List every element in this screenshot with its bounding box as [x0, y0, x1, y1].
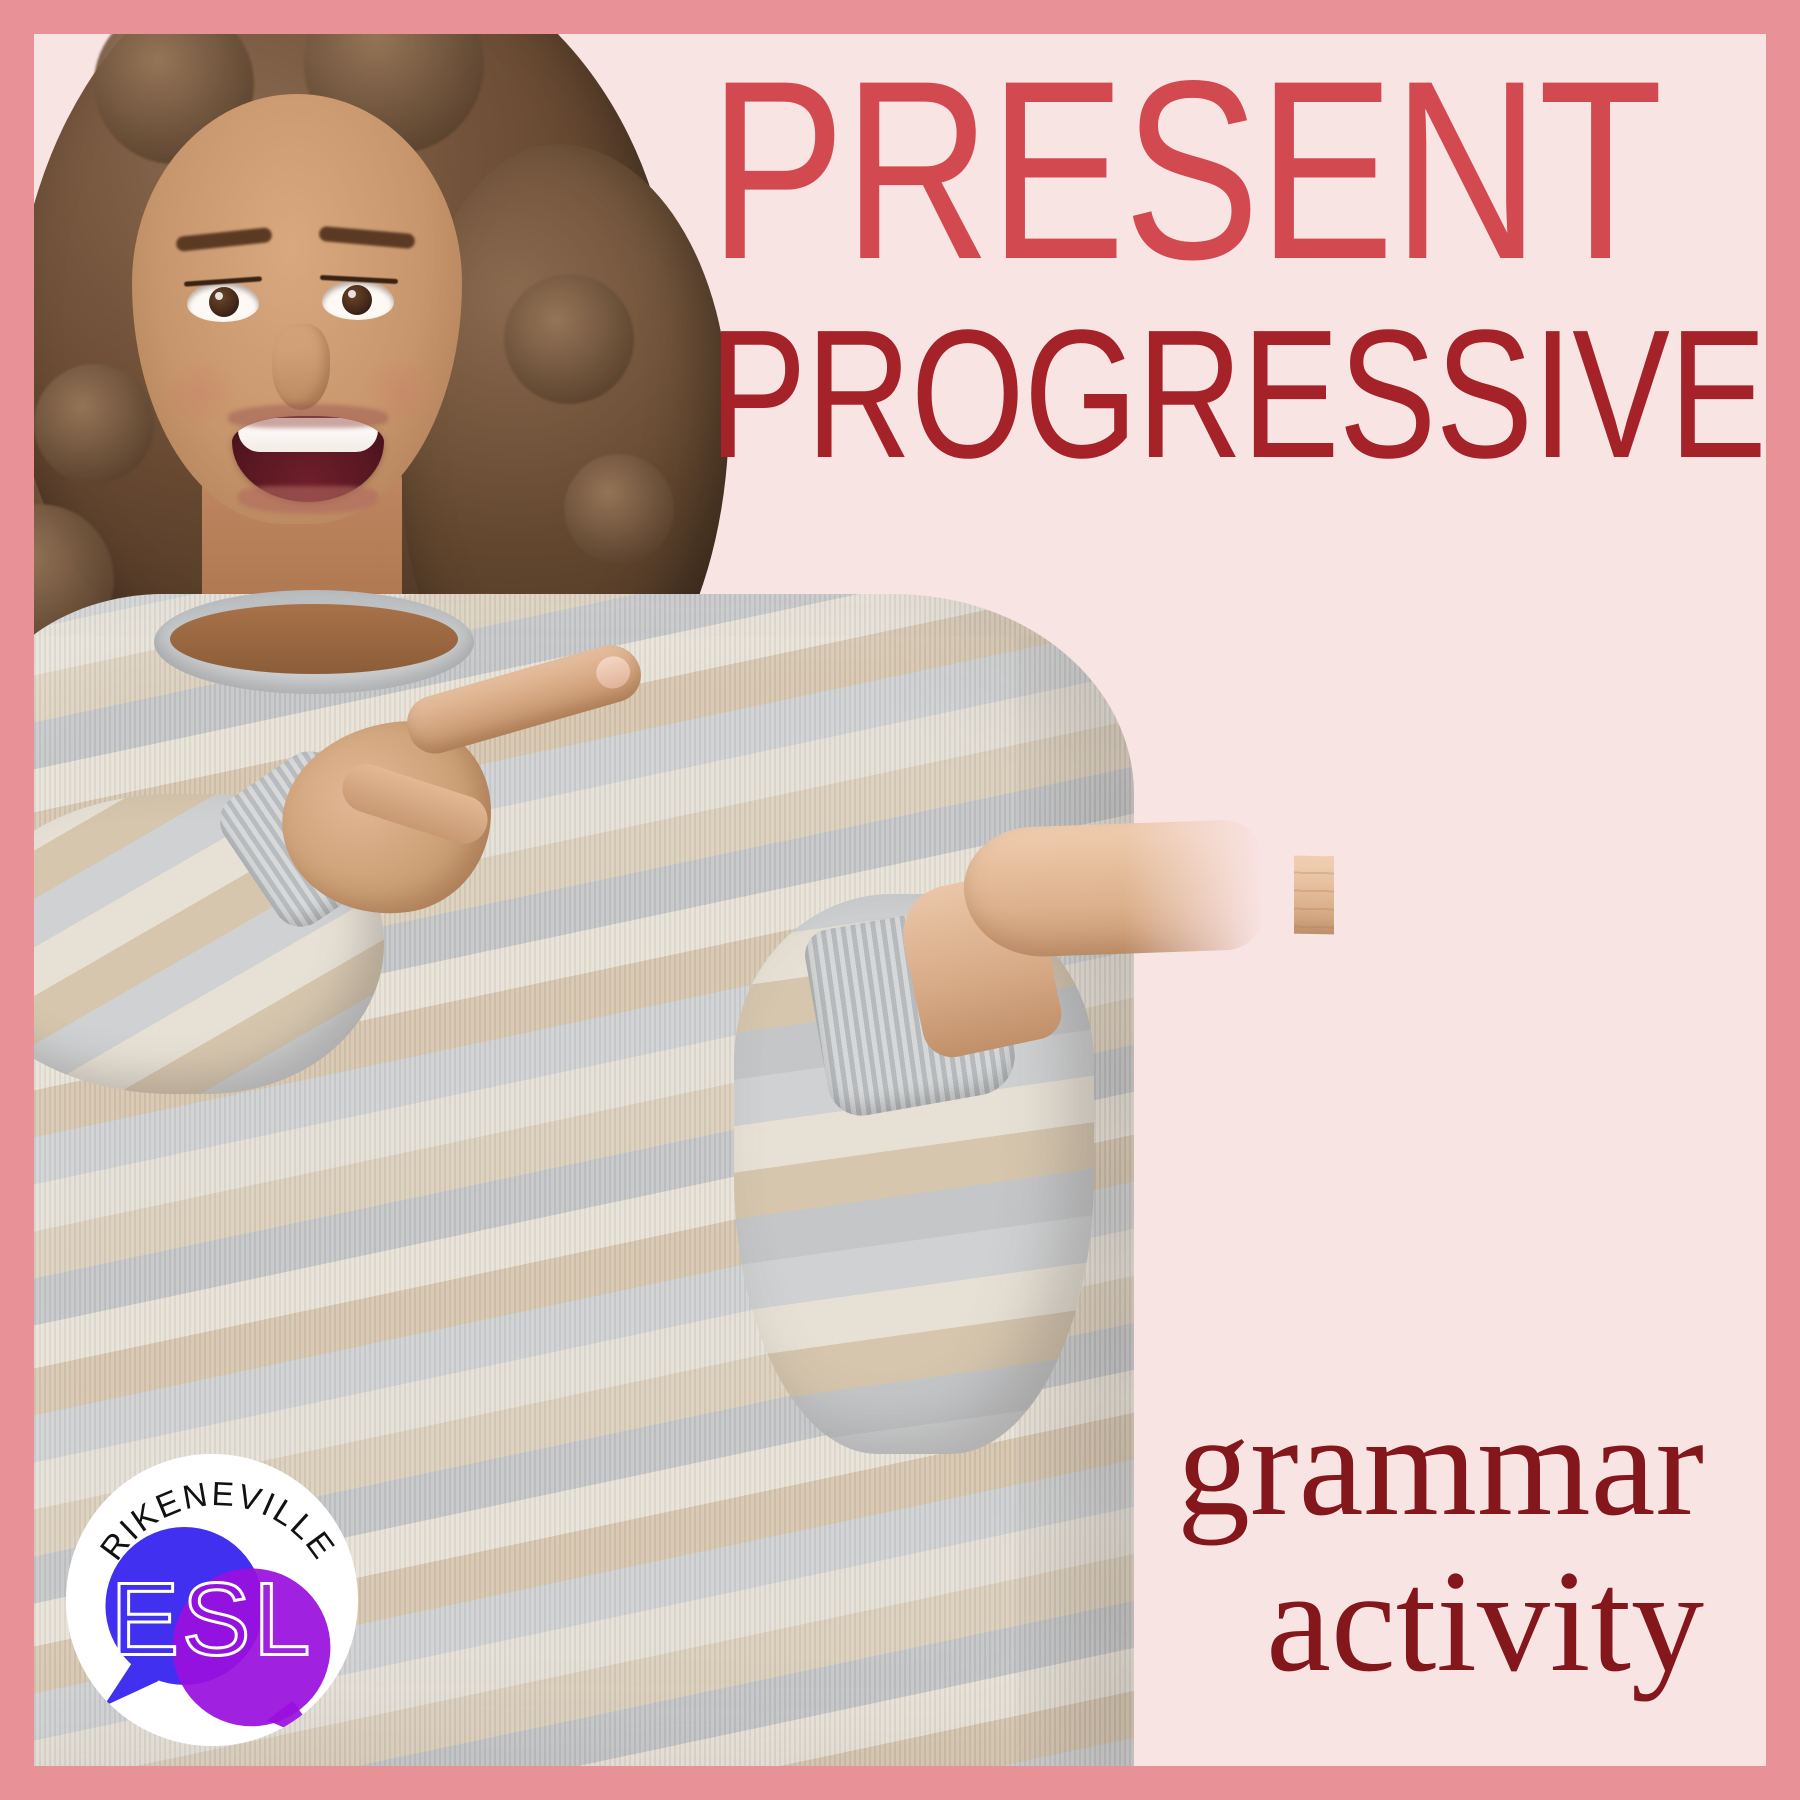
hair-curl — [504, 274, 634, 404]
cover-image: PRESENT PROGRESSIVE grammar activity — [0, 0, 1800, 1800]
logo-main-text: ESL — [111, 1561, 314, 1676]
hair-curl — [34, 364, 154, 484]
upper-lip — [228, 404, 388, 428]
open-palm — [962, 819, 1266, 959]
lower-lip — [238, 486, 378, 514]
hair-curl — [564, 454, 674, 564]
eye-right — [322, 280, 394, 320]
eye-left — [187, 282, 259, 322]
iris-right — [342, 285, 372, 315]
cover-canvas: PRESENT PROGRESSIVE grammar activity — [34, 34, 1766, 1766]
sweater-collar — [154, 590, 474, 694]
nose — [272, 324, 330, 410]
iris-left — [209, 287, 239, 317]
logo-svg: RIKENEVILLE ESL — [64, 1452, 360, 1748]
brand-logo[interactable]: RIKENEVILLE ESL — [64, 1452, 360, 1748]
